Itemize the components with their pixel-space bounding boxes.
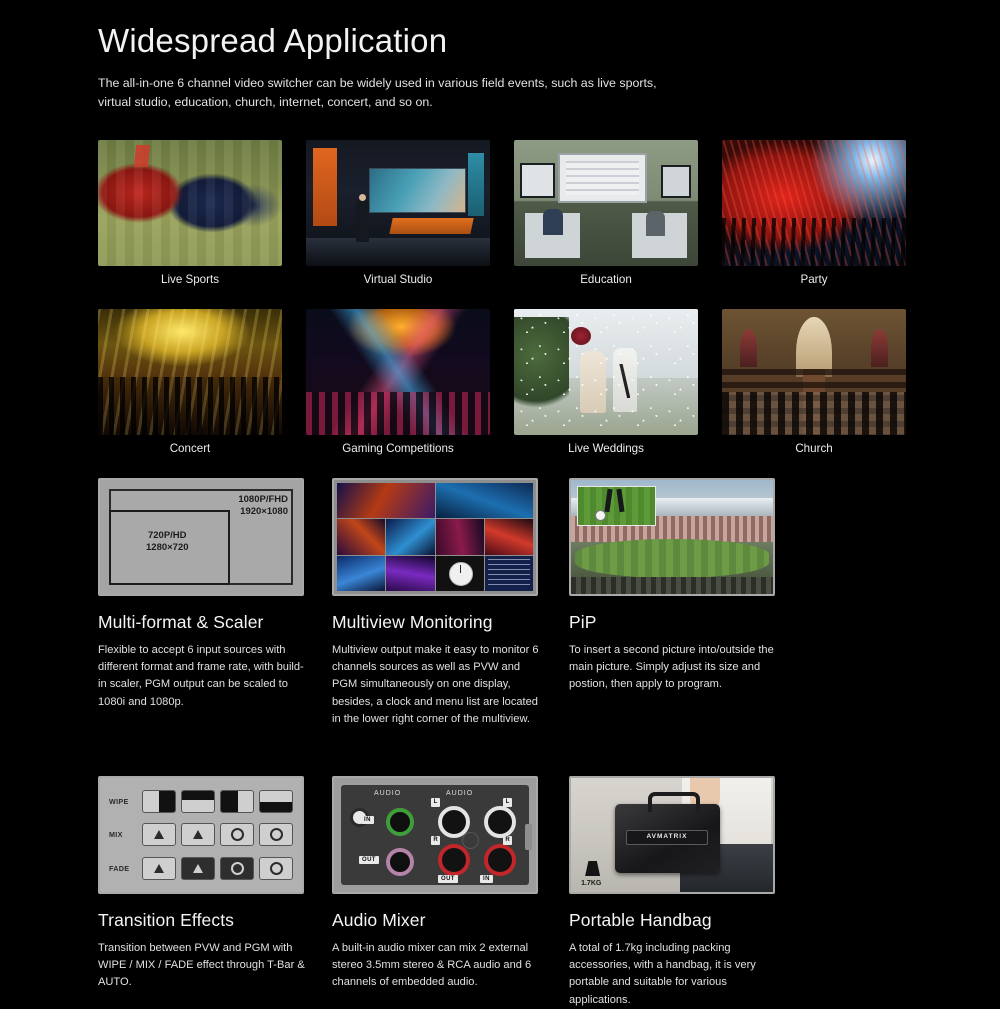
fhd-label-group: 1080P/FHD 1920×1080 (238, 494, 288, 518)
triangle-icon (193, 864, 203, 873)
church-photo (722, 309, 906, 435)
multiview-tile-8 (386, 556, 434, 591)
feature-card-multi-format-scaler: 1080P/FHD 1920×1080 720P/HD 1280×720 Mul… (98, 478, 308, 728)
feature-body: To insert a second picture into/outside … (569, 642, 779, 694)
mix-button-1[interactable] (142, 823, 176, 846)
rca-in-tag: IN (480, 875, 493, 883)
audio-out-jack (386, 848, 414, 876)
classroom-monitor-right (661, 165, 691, 198)
multiview-tile-4 (386, 519, 434, 554)
studio-screen (369, 168, 467, 213)
multiview-clock-icon (436, 556, 484, 591)
rca-right-out (438, 844, 470, 876)
multiview-tile-5 (436, 519, 484, 554)
gallery-item-gaming-competitions: Gaming Competitions (306, 309, 490, 455)
hd-format-label: 720P/HD (148, 530, 187, 541)
classroom-student-right (646, 211, 665, 236)
rca-left-label-2: L (503, 798, 512, 807)
rca-out-tag: OUT (438, 875, 458, 883)
feature-body: A total of 1.7kg including packing acces… (569, 940, 779, 1009)
feature-body: Flexible to accept 6 input sources with … (98, 642, 308, 711)
fhd-resolution-label: 1920×1080 (240, 506, 288, 517)
mix-button-4[interactable] (259, 823, 293, 846)
mix-button-2[interactable] (181, 823, 215, 846)
classroom-monitor-left (520, 163, 555, 199)
gallery-item-church: Church (722, 309, 906, 455)
gallery-item-virtual-studio: Virtual Studio (306, 140, 490, 286)
wipe-button-1[interactable] (142, 790, 176, 813)
page-header: Widespread Application The all-in-one 6 … (98, 22, 918, 111)
feature-card-multiview-monitoring: Multiview Monitoring Multiview output ma… (332, 478, 545, 728)
gallery-row-2: Concert Gaming Competitions Live Wedding… (98, 309, 920, 455)
multiview-tile-1 (337, 483, 435, 518)
product-feature-page: Widespread Application The all-in-one 6 … (0, 0, 1000, 1000)
handbag-handle (648, 792, 700, 812)
gallery-caption: Concert (98, 442, 282, 455)
page-subtitle: The all-in-one 6 channel video switcher … (98, 74, 658, 111)
multiview-tile-3 (337, 519, 385, 554)
feature-title: PiP (569, 612, 779, 633)
rca-left-label-1: L (431, 798, 440, 807)
pip-diagram (569, 478, 775, 596)
audio-section-label-2: AUDIO (446, 790, 473, 797)
multiview-menu-list (485, 556, 533, 591)
rca-right-in (484, 844, 516, 876)
audio-out-tag: OUT (359, 856, 379, 864)
church-window-right (871, 329, 888, 367)
transition-row-label: FADE (109, 864, 137, 873)
weight-icon (585, 861, 600, 876)
feature-title: Portable Handbag (569, 910, 779, 931)
studio-floor (306, 238, 490, 266)
gallery-item-education: Education (514, 140, 698, 286)
feature-body: A built-in audio mixer can mix 2 externa… (332, 940, 545, 992)
church-window-left (740, 329, 757, 367)
wipe-button-2[interactable] (181, 790, 215, 813)
feature-title: Multi-format & Scaler (98, 612, 308, 633)
fade-button-2[interactable] (181, 857, 215, 880)
rca-left-in (484, 806, 516, 838)
application-gallery: Live Sports Virtual Studio (98, 140, 920, 455)
feature-row-2: WIPE MIX FADE (98, 776, 920, 1009)
transition-row-label: WIPE (109, 797, 137, 806)
feature-title: Transition Effects (98, 910, 308, 931)
rca-right-label-1: R (431, 836, 440, 845)
feature-card-pip: PiP To insert a second picture into/outs… (569, 478, 779, 728)
circle-icon (270, 862, 283, 875)
wipe-button-4[interactable] (259, 790, 293, 813)
live-sports-photo (98, 140, 282, 266)
gaming-competitions-photo (306, 309, 490, 435)
feature-card-transition-effects: WIPE MIX FADE (98, 776, 308, 1009)
gallery-item-live-weddings: Live Weddings (514, 309, 698, 455)
triangle-icon (154, 830, 164, 839)
mounting-hole (462, 832, 479, 849)
studio-orange-panel (313, 148, 337, 226)
gallery-caption: Virtual Studio (306, 273, 490, 286)
feature-title: Audio Mixer (332, 910, 545, 931)
audio-in-tag: IN (361, 816, 374, 824)
audio-section-label-1: AUDIO (374, 790, 401, 797)
scaler-diagram: 1080P/FHD 1920×1080 720P/HD 1280×720 (98, 478, 304, 596)
feature-body: Transition between PVW and PGM with WIPE… (98, 940, 308, 992)
multiview-tile-6 (485, 519, 533, 554)
stadium-foreground (571, 577, 773, 594)
feature-body: Multiview output make it easy to monitor… (332, 642, 545, 728)
hdmi-port (525, 824, 532, 850)
concert-photo (98, 309, 282, 435)
soccer-ball-icon (595, 510, 606, 521)
transition-row-wipe: WIPE (109, 790, 293, 813)
wedding-confetti (514, 309, 698, 435)
audio-in-jack (386, 808, 414, 836)
studio-blue-panel (468, 153, 485, 216)
gallery-row-1: Live Sports Virtual Studio (98, 140, 920, 286)
fhd-format-label: 1080P/FHD (238, 494, 288, 505)
circle-icon (270, 828, 283, 841)
circle-icon (231, 828, 244, 841)
feature-cards: 1080P/FHD 1920×1080 720P/HD 1280×720 Mul… (98, 478, 920, 1009)
multiview-tile-7 (337, 556, 385, 591)
feature-row-1: 1080P/FHD 1920×1080 720P/HD 1280×720 Mul… (98, 478, 920, 728)
live-weddings-photo (514, 309, 698, 435)
hd-label-group: 720P/HD 1280×720 (146, 530, 189, 554)
pip-inset-window (577, 486, 656, 526)
church-congregation (722, 392, 906, 435)
stadium-field (575, 539, 769, 578)
gallery-item-party: Party (722, 140, 906, 286)
multiview-diagram (332, 478, 538, 596)
fade-button-1[interactable] (142, 857, 176, 880)
transition-row-fade: FADE (109, 857, 293, 880)
gallery-caption: Live Weddings (514, 442, 698, 455)
classroom-student-left (543, 209, 563, 235)
audio-panel: AUDIO AUDIO IN OUT L L R R OUT IN (332, 776, 538, 894)
wipe-button-3[interactable] (220, 790, 254, 813)
gallery-caption: Gaming Competitions (306, 442, 490, 455)
mix-button-3[interactable] (220, 823, 254, 846)
education-photo (514, 140, 698, 266)
handbag-brand-label: AVMATRIX (626, 830, 709, 845)
gallery-caption: Church (722, 442, 906, 455)
classroom-whiteboard (558, 153, 647, 204)
circle-icon (231, 862, 244, 875)
feature-title: Multiview Monitoring (332, 612, 545, 633)
gallery-item-live-sports: Live Sports (98, 140, 282, 286)
transition-panel: WIPE MIX FADE (98, 776, 304, 894)
multiview-tile-2 (436, 483, 534, 518)
triangle-icon (193, 830, 203, 839)
page-title: Widespread Application (98, 22, 918, 60)
gallery-caption: Live Sports (98, 273, 282, 286)
weight-label: 1.7KG (581, 880, 601, 887)
handbag-photo: AVMATRIX 1.7KG (569, 776, 775, 894)
fade-button-4[interactable] (259, 857, 293, 880)
virtual-studio-photo (306, 140, 490, 266)
studio-presenter (356, 200, 369, 242)
rca-right-label-2: R (503, 836, 512, 845)
church-altar-arch (796, 317, 833, 377)
feature-card-audio-mixer: AUDIO AUDIO IN OUT L L R R OUT IN (332, 776, 545, 1009)
triangle-icon (154, 864, 164, 873)
gallery-caption: Party (722, 273, 906, 286)
gallery-caption: Education (514, 273, 698, 286)
transition-row-label: MIX (109, 830, 137, 839)
party-photo (722, 140, 906, 266)
studio-desk (389, 218, 473, 234)
fade-button-3[interactable] (220, 857, 254, 880)
gallery-item-concert: Concert (98, 309, 282, 455)
hd-resolution-label: 1280×720 (146, 542, 189, 553)
transition-row-mix: MIX (109, 823, 293, 846)
feature-card-portable-handbag: AVMATRIX 1.7KG Portable Handbag A total … (569, 776, 779, 1009)
